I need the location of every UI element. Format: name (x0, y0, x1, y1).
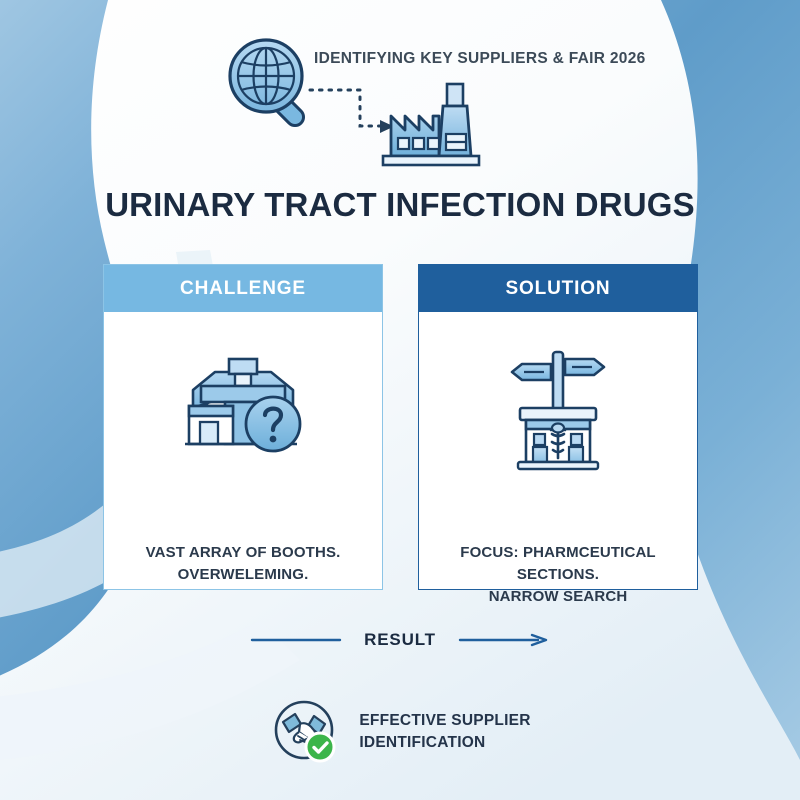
result-label: RESULT (364, 630, 436, 650)
horizontal-rule (250, 634, 342, 646)
outcome-text: EFFECTIVE SUPPLIER IDENTIFICATION (359, 710, 530, 754)
arrow-right-icon (458, 632, 550, 648)
outcome-block: EFFECTIVE SUPPLIER IDENTIFICATION (0, 696, 800, 768)
pharmacy-signpost-icon (494, 346, 622, 474)
page-title: URINARY TRACT INFECTION DRUGS (0, 186, 800, 224)
solution-card: SOLUTION (418, 264, 698, 590)
solution-icon-wrap (419, 346, 697, 474)
challenge-card: CHALLENGE (103, 264, 383, 590)
header-band: IDENTIFYING KEY SUPPLIERS & FAIR 2026 (0, 28, 800, 168)
solution-text-line-1: FOCUS: PHARMCEUTICAL SECTIONS. (427, 542, 689, 586)
solution-card-body: FOCUS: PHARMCEUTICAL SECTIONS. NARROW SE… (419, 312, 697, 588)
factory-icon (383, 84, 479, 165)
challenge-text-line-2: OVERWELEMING. (112, 564, 374, 586)
header-illustration (0, 28, 800, 168)
challenge-card-header: CHALLENGE (104, 265, 382, 312)
result-divider: RESULT (0, 630, 800, 650)
dotted-arrow-connector (310, 90, 382, 126)
globe-magnifier-icon (230, 40, 307, 129)
challenge-icon-wrap (104, 346, 382, 462)
handshake-check-icon (269, 696, 343, 768)
outcome-text-line-1: EFFECTIVE SUPPLIER (359, 710, 530, 732)
solution-card-text: FOCUS: PHARMCEUTICAL SECTIONS. NARROW SE… (427, 542, 689, 607)
challenge-text-line-1: VAST ARRAY OF BOOTHS. (112, 542, 374, 564)
solution-text-line-2: NARROW SEARCH (427, 586, 689, 608)
solution-card-header: SOLUTION (419, 265, 697, 312)
challenge-card-body: VAST ARRAY OF BOOTHS. OVERWELEMING. (104, 312, 382, 588)
challenge-card-text: VAST ARRAY OF BOOTHS. OVERWELEMING. (112, 542, 374, 586)
exhibition-booths-question-icon (177, 346, 309, 462)
infographic-canvas: IDENTIFYING KEY SUPPLIERS & FAIR 2026 UR… (0, 0, 800, 800)
outcome-text-line-2: IDENTIFICATION (359, 732, 530, 754)
header-eyebrow-text: IDENTIFYING KEY SUPPLIERS & FAIR 2026 (314, 50, 646, 68)
